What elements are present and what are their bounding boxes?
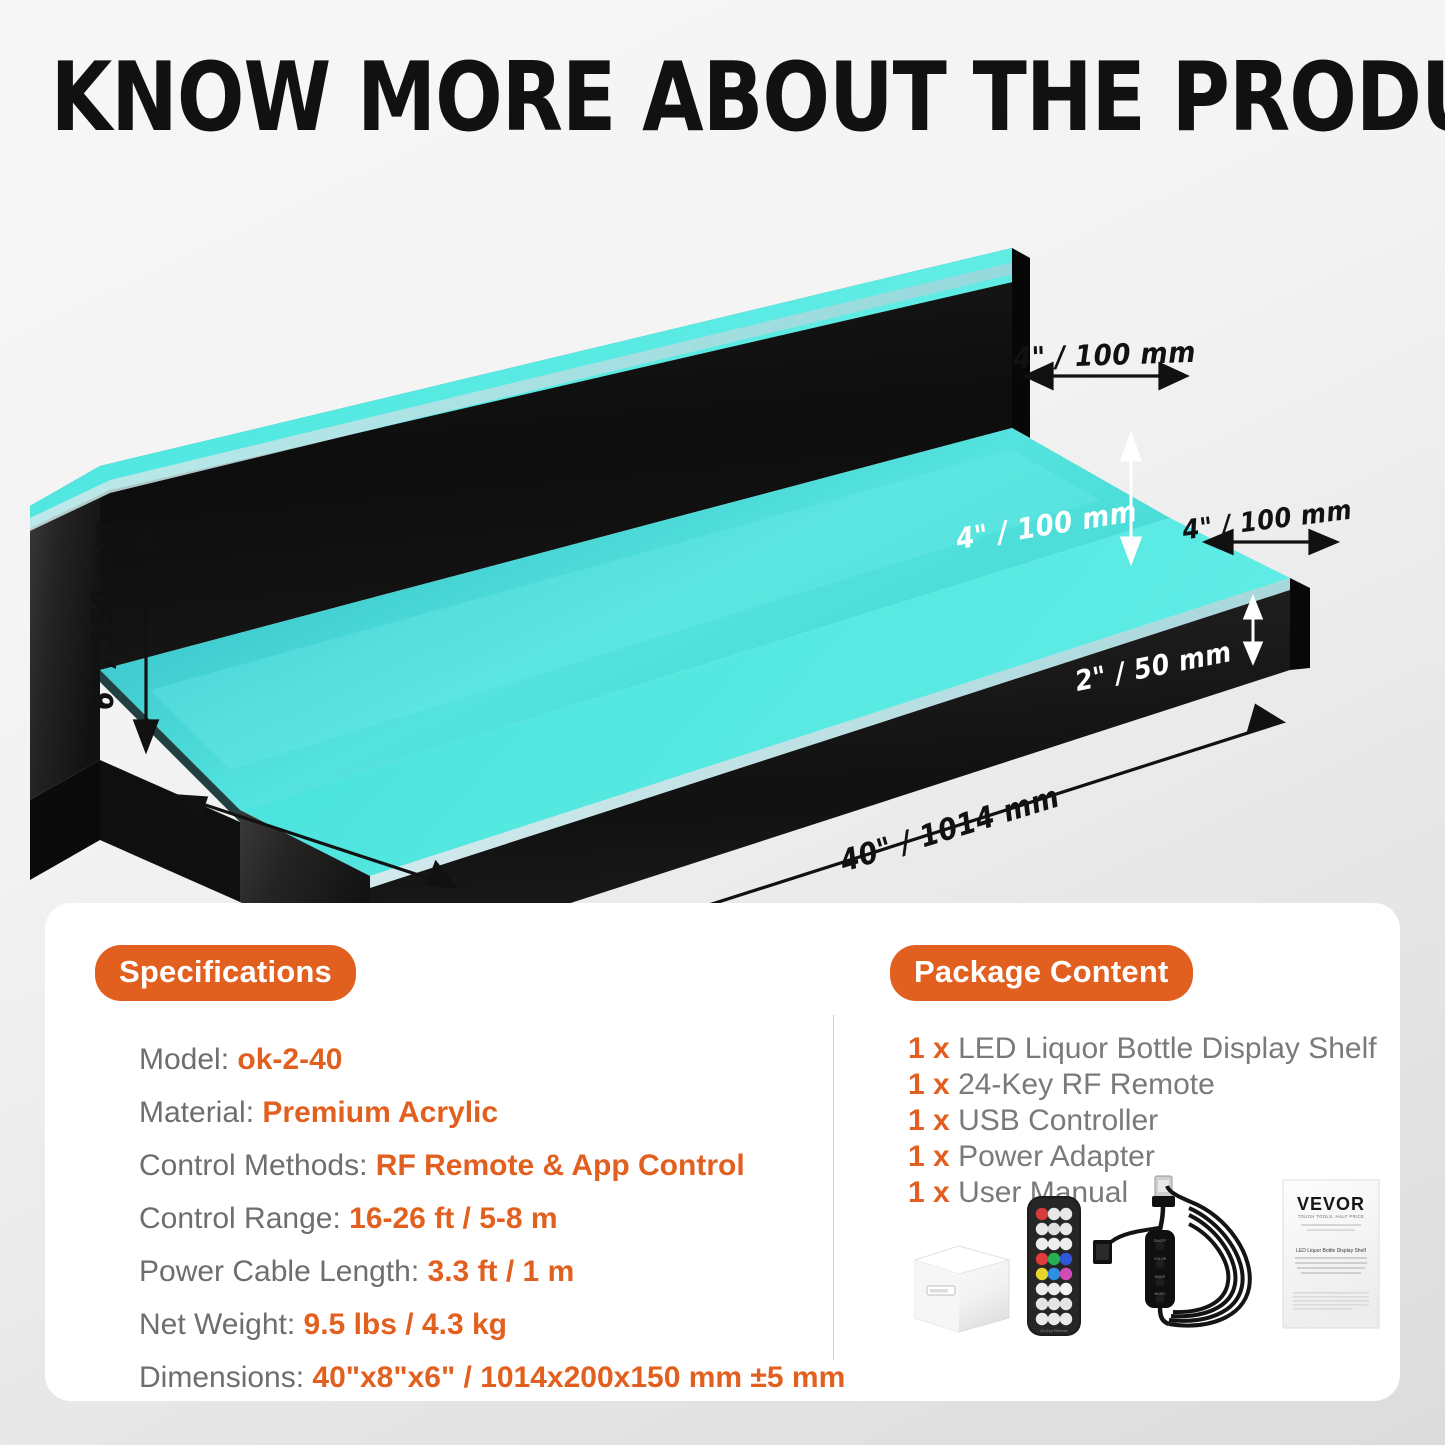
page-title: KNOW MORE ABOUT THE PRODUCT (51, 48, 1395, 148)
rf-remote-photo: 24-Key Remote (1027, 1196, 1081, 1336)
spec-row: Control Methods: RF Remote & App Control (95, 1139, 815, 1192)
item-name: USB Controller (958, 1104, 1158, 1137)
specifications-list: Model: ok-2-40 Material: Premium Acrylic… (95, 1033, 815, 1404)
spec-row: Power Cable Length: 3.3 ft / 1 m (95, 1245, 815, 1298)
dim-label-height: 6" / 150 mm (86, 521, 121, 710)
usb-controller-photo: ON/OFF COLOR MODE MUSIC (1093, 1176, 1250, 1326)
svg-text:VEVOR: VEVOR (1297, 1194, 1365, 1214)
item-qty: 1 x (908, 1104, 950, 1137)
svg-text:COLOR: COLOR (1154, 1257, 1167, 1261)
item-qty: 1 x (908, 1032, 950, 1065)
item-name: 24-Key RF Remote (958, 1068, 1215, 1101)
spec-value: 3.3 ft / 1 m (428, 1255, 575, 1288)
spec-value: Premium Acrylic (262, 1096, 498, 1129)
package-content-heading: Package Content (890, 945, 1193, 1001)
specifications-section: Specifications Model: ok-2-40 Material: … (95, 945, 815, 1404)
spec-label: Dimensions: (139, 1361, 304, 1394)
column-divider (833, 1015, 834, 1360)
spec-value: RF Remote & App Control (376, 1149, 745, 1182)
svg-text:LED Liquor Bottle Display Shel: LED Liquor Bottle Display Shelf (1296, 1248, 1366, 1254)
spec-row: Control Range: 16-26 ft / 5-8 m (95, 1192, 815, 1245)
dim-label-top-depth: 4" / 100 mm (1012, 335, 1196, 375)
spec-label: Control Range: (139, 1202, 341, 1235)
spec-row: Material: Premium Acrylic (95, 1086, 815, 1139)
svg-text:MODE: MODE (1155, 1275, 1166, 1279)
spec-value: 9.5 lbs / 4.3 kg (304, 1308, 507, 1341)
list-item: 1 x USB Controller (908, 1103, 1390, 1139)
spec-value: 40"x8"x6" / 1014x200x150 mm ±5 mm (312, 1361, 845, 1394)
svg-text:TOUGH TOOLS, HALF PRICE: TOUGH TOOLS, HALF PRICE (1298, 1214, 1364, 1219)
spec-row: Net Weight: 9.5 lbs / 4.3 kg (95, 1298, 815, 1351)
specifications-heading: Specifications (95, 945, 356, 1001)
svg-text:ON/OFF: ON/OFF (1154, 1239, 1167, 1243)
product-illustration: 4" / 100 mm 4" / 100 mm 4" / 100 mm 2" /… (0, 150, 1445, 910)
user-manual-photo: VEVOR TOUGH TOOLS, HALF PRICE LED Liquor… (1283, 1180, 1379, 1328)
spec-label: Material: (139, 1096, 254, 1129)
package-contents-photo: 24-Key Remote (897, 1168, 1397, 1368)
svg-text:24-Key Remote: 24-Key Remote (1040, 1328, 1069, 1333)
spec-label: Model: (139, 1043, 229, 1076)
spec-row: Dimensions: 40"x8"x6" / 1014x200x150 mm … (95, 1351, 815, 1404)
spec-label: Net Weight: (139, 1308, 295, 1341)
spec-value: ok-2-40 (237, 1043, 342, 1076)
item-name: LED Liquor Bottle Display Shelf (958, 1032, 1377, 1065)
spec-row: Model: ok-2-40 (95, 1033, 815, 1086)
info-card: Specifications Model: ok-2-40 Material: … (45, 903, 1400, 1401)
infographic-page: KNOW MORE ABOUT THE PRODUCT (0, 0, 1445, 1445)
svg-text:MUSIC: MUSIC (1155, 1292, 1166, 1296)
list-item: 1 x 24-Key RF Remote (908, 1067, 1390, 1103)
power-adapter-photo (915, 1246, 1009, 1332)
spec-label: Control Methods: (139, 1149, 367, 1182)
item-qty: 1 x (908, 1068, 950, 1101)
spec-value: 16-26 ft / 5-8 m (349, 1202, 557, 1235)
spec-label: Power Cable Length: (139, 1255, 419, 1288)
list-item: 1 x LED Liquor Bottle Display Shelf (908, 1031, 1390, 1067)
